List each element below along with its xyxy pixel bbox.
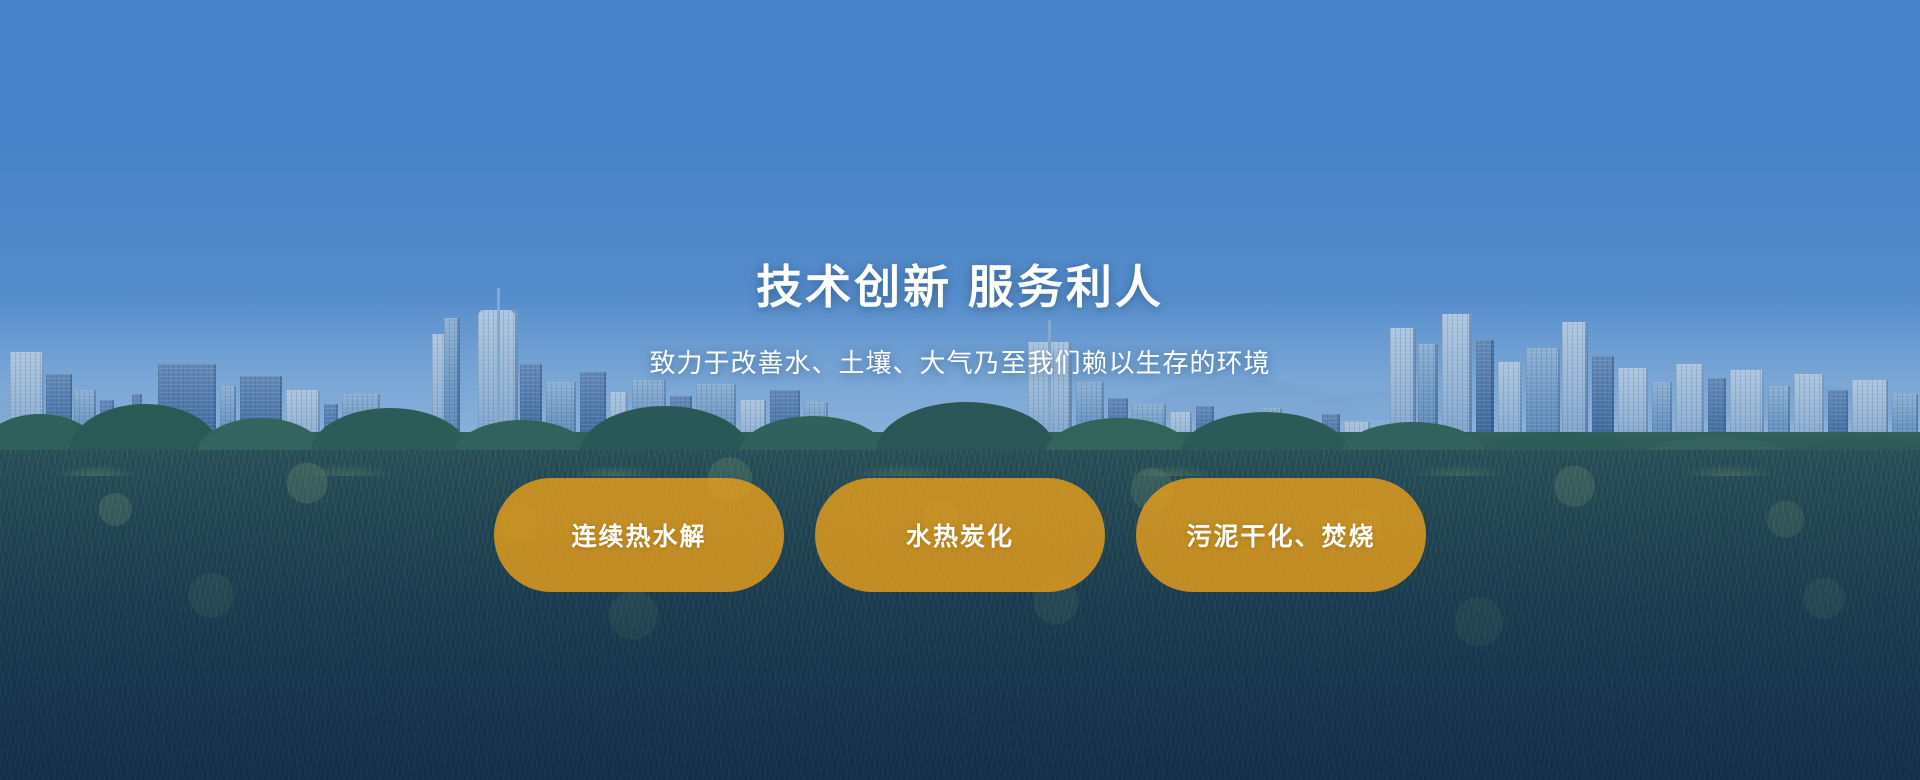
- page-subtitle: 致力于改善水、土壤、大气乃至我们赖以生存的环境: [0, 343, 1920, 380]
- cta-button-continuous-thermal-hydrolysis[interactable]: 连续热水解: [494, 478, 784, 592]
- cta-button-hydrothermal-carbonization[interactable]: 水热炭化: [815, 478, 1105, 592]
- hero-banner: 技术创新 服务利人 致力于改善水、土壤、大气乃至我们赖以生存的环境 连续热水解 …: [0, 0, 1920, 780]
- hero-content: 技术创新 服务利人 致力于改善水、土壤、大气乃至我们赖以生存的环境 连续热水解 …: [0, 0, 1920, 780]
- page-title: 技术创新 服务利人: [0, 262, 1920, 313]
- cta-button-row: 连续热水解 水热炭化 污泥干化、焚烧: [0, 478, 1920, 592]
- cta-button-sludge-drying-incineration[interactable]: 污泥干化、焚烧: [1136, 478, 1426, 592]
